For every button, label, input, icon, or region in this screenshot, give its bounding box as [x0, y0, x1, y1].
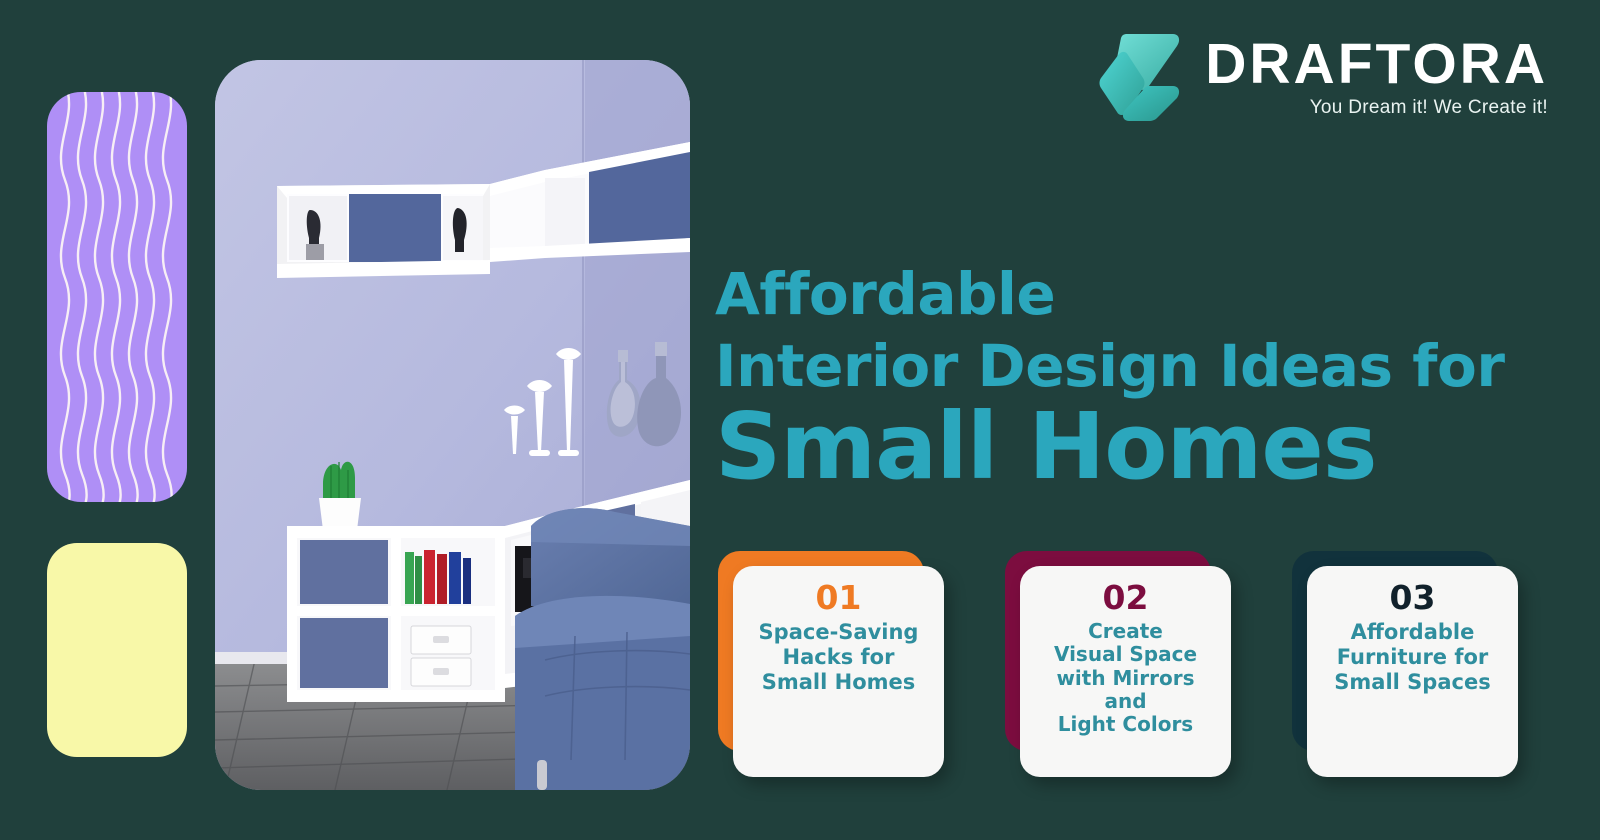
- tip-card-02[interactable]: 02 Create Visual Space with Mirrors and …: [999, 545, 1231, 777]
- tip-card-03-front[interactable]: 03 Affordable Furniture for Small Spaces: [1307, 566, 1518, 777]
- interior-photo: [215, 60, 690, 790]
- tip-card-03-title: Affordable Furniture for Small Spaces: [1334, 620, 1490, 694]
- tips-card-list: 01 Space-Saving Hacks for Small Homes 02…: [712, 545, 1518, 777]
- decor-yellow-panel: [47, 543, 187, 757]
- tip-card-03-number: 03: [1390, 580, 1436, 616]
- tip-card-03[interactable]: 03 Affordable Furniture for Small Spaces: [1286, 545, 1518, 777]
- tip-card-01-front[interactable]: 01 Space-Saving Hacks for Small Homes: [733, 566, 944, 777]
- tip-card-01-number: 01: [816, 580, 862, 616]
- brand-wordmark-group: DRAFTORA You Dream it! We Create it!: [1205, 35, 1548, 118]
- brand-logo[interactable]: DRAFTORA You Dream it! We Create it!: [1087, 28, 1548, 126]
- isometric-cube-icon: [1087, 28, 1183, 126]
- brand-name: DRAFTORA: [1205, 35, 1548, 93]
- tip-card-02-title: Create Visual Space with Mirrors and Lig…: [1054, 620, 1197, 736]
- tip-card-02-front[interactable]: 02 Create Visual Space with Mirrors and …: [1020, 566, 1231, 777]
- tip-card-01-title: Space-Saving Hacks for Small Homes: [759, 620, 919, 694]
- headline-line-2: Interior Design Ideas for: [715, 337, 1575, 395]
- tip-card-02-number: 02: [1103, 580, 1149, 616]
- page-title: Affordable Interior Design Ideas for Sma…: [715, 265, 1575, 493]
- headline-line-1: Affordable: [715, 265, 1575, 323]
- tip-card-01[interactable]: 01 Space-Saving Hacks for Small Homes: [712, 545, 944, 777]
- brand-tagline: You Dream it! We Create it!: [1310, 97, 1548, 119]
- decor-purple-wavy-panel: [47, 92, 187, 502]
- headline-line-3: Small Homes: [715, 401, 1575, 493]
- poster-canvas: DRAFTORA You Dream it! We Create it! Aff…: [0, 0, 1600, 840]
